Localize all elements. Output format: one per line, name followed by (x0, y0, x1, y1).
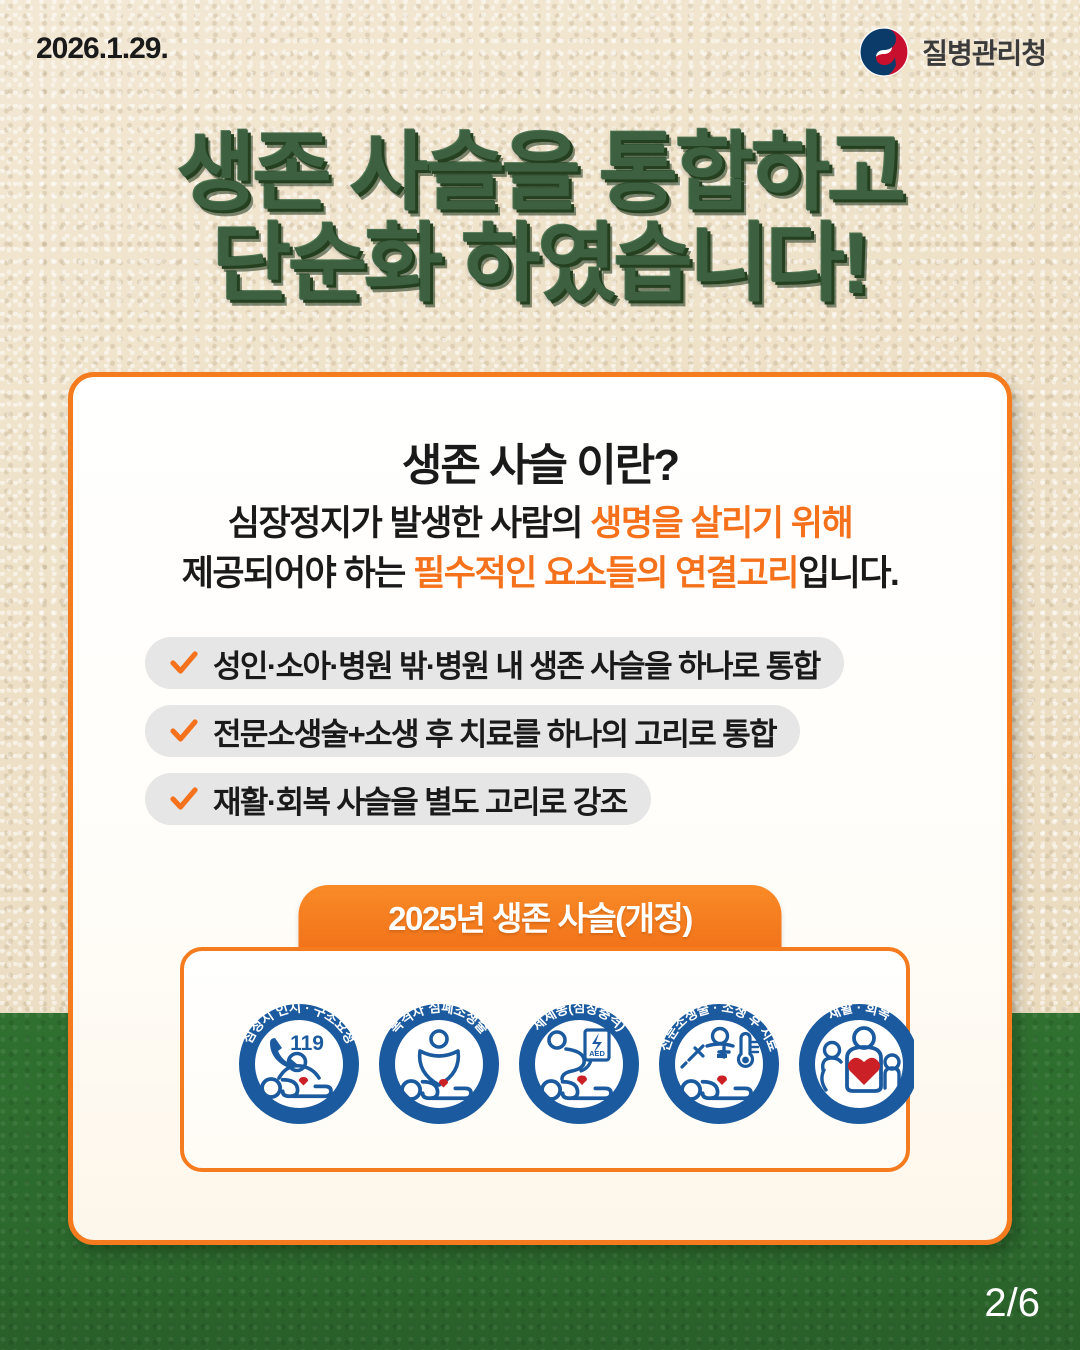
checklist: 성인·소아·병원 밖·병원 내 생존 사슬을 하나로 통합 전문소생술+소생 후… (145, 637, 945, 841)
agency-logo: 질병관리청 (858, 26, 1046, 78)
svg-text:AED: AED (589, 1049, 605, 1058)
diagram-tab: 2025년 생존 사슬(개정) (299, 885, 782, 947)
checklist-item-label: 전문소생술+소생 후 치료를 하나의 고리로 통합 (213, 709, 776, 754)
list-item: 전문소생술+소생 후 치료를 하나의 고리로 통합 (145, 705, 800, 757)
body-text-plain: 제공되어야 하는 (182, 554, 413, 593)
card-body-line-1: 심장정지가 발생한 사람의 생명을 살리기 위해 (73, 499, 1007, 549)
body-text-highlight: 필수적인 요소들의 연결고리 (413, 554, 798, 593)
checklist-item-label: 성인·소아·병원 밖·병원 내 생존 사슬을 하나로 통합 (213, 641, 820, 686)
agency-name: 질병관리청 (922, 32, 1046, 72)
body-text-plain: 심장정지가 발생한 사람의 (228, 504, 590, 543)
checklist-item-label: 재활·회복 사슬을 별도 고리로 강조 (213, 777, 627, 822)
page-indicator: 2/6 (984, 1281, 1040, 1326)
title-line-1: 생존 사슬을 통합하고 (177, 125, 904, 221)
card-body: 심장정지가 발생한 사람의 생명을 살리기 위해 제공되어야 하는 필수적인 요… (73, 499, 1007, 598)
publish-date: 2026.1.29. (36, 32, 168, 66)
page-title: 생존 사슬을 통합하고 단순화 하였습니다! (0, 128, 1080, 310)
infographic-canvas: 2026.1.29. 질병관리청 생존 사슬을 통합하고 단순화 하였습니다! … (0, 0, 1080, 1350)
diagram-tab-label: 2025년 생존 사슬(개정) (388, 892, 692, 940)
title-line-2: 단순화 하였습니다! (0, 219, 1080, 310)
list-item: 성인·소아·병원 밖·병원 내 생존 사슬을 하나로 통합 (145, 637, 844, 689)
chain-of-survival-diagram: 심정지 인지 · 구조요청 목격자 심폐소생술 제세동(심장충격) 전문소생술 … (180, 947, 910, 1172)
body-text-highlight: 생명을 살리기 위해 (590, 504, 852, 543)
svg-text:119: 119 (290, 1032, 324, 1055)
card-body-line-2: 제공되어야 하는 필수적인 요소들의 연결고리입니다. (73, 549, 1007, 599)
check-icon (169, 716, 199, 746)
card-heading: 생존 사슬 이란? (73, 429, 1007, 493)
body-text-plain: 입니다. (798, 554, 898, 593)
content-card: 생존 사슬 이란? 심장정지가 발생한 사람의 생명을 살리기 위해 제공되어야… (68, 372, 1012, 1245)
taegeuk-logo-icon (858, 26, 910, 78)
check-icon (169, 648, 199, 678)
list-item: 재활·회복 사슬을 별도 고리로 강조 (145, 773, 651, 825)
chain-links-graphic: 심정지 인지 · 구조요청 목격자 심폐소생술 제세동(심장충격) 전문소생술 … (184, 951, 914, 1176)
check-icon (169, 784, 199, 814)
